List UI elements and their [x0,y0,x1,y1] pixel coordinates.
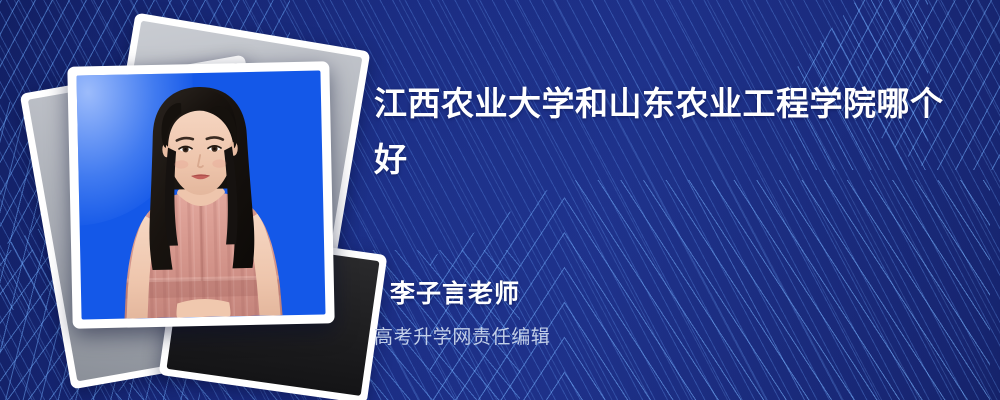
author-name: 李子言老师 [390,274,520,310]
author-role: 高考升学网责任编辑 [374,322,550,349]
portrait-illustration [76,70,325,319]
photo-card-stack [48,28,348,373]
article-headline: 江西农业大学和山东农业工程学院哪个好 [374,76,954,188]
text-column: 江西农业大学和山东农业工程学院哪个好 李子言老师 高考升学网责任编辑 [374,0,974,400]
author-photo [76,70,325,319]
article-cover-banner: 江西农业大学和山东农业工程学院哪个好 李子言老师 高考升学网责任编辑 [0,0,1000,400]
author-photo-card [67,61,334,328]
